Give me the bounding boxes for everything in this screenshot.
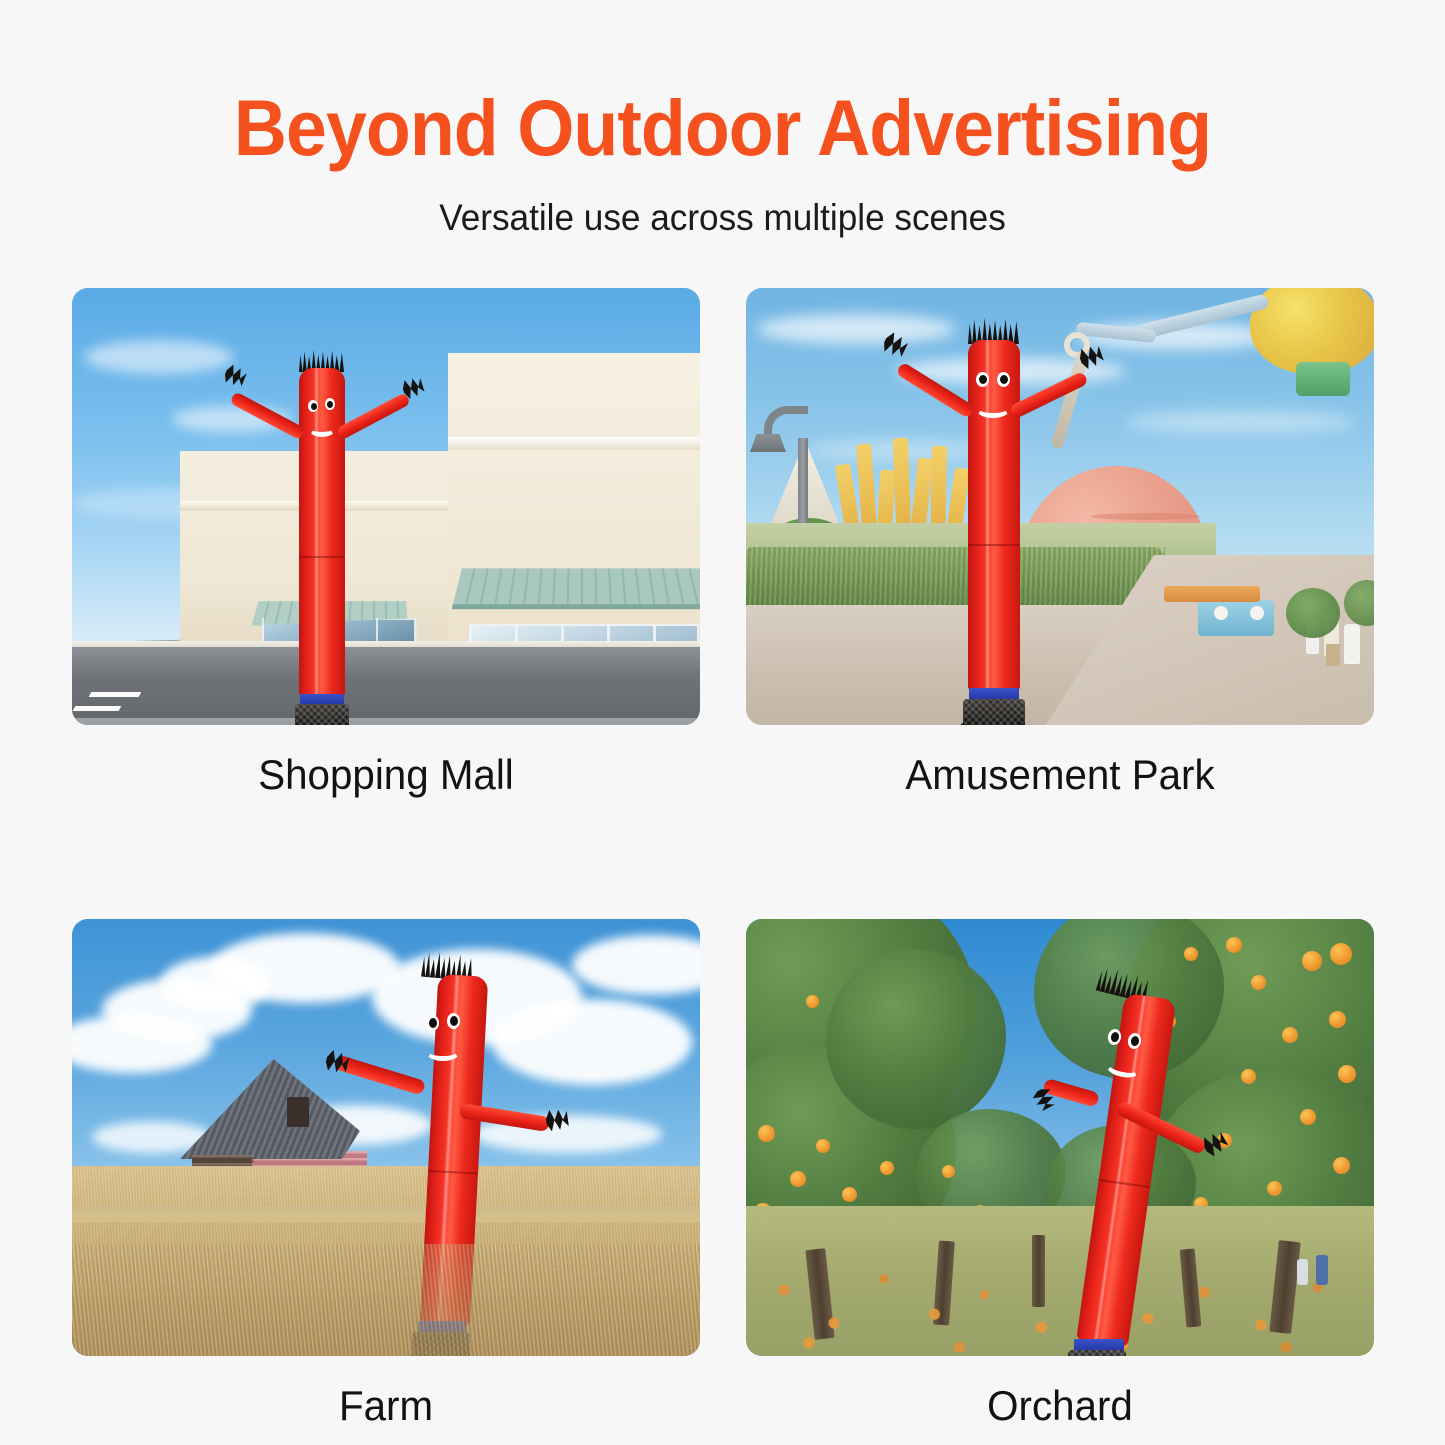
- cloud: [756, 314, 956, 344]
- barn-window: [287, 1097, 309, 1127]
- visitor: [1344, 624, 1360, 664]
- body-highlight: [314, 368, 319, 698]
- entrance-awning: [452, 568, 700, 609]
- asphalt-upper: [72, 718, 700, 725]
- tube-man-eye-left: [426, 1015, 439, 1031]
- parking-line: [73, 706, 122, 711]
- orange-fruit: [1267, 1181, 1282, 1196]
- visitor: [1297, 1259, 1308, 1285]
- body-seam: [968, 544, 1020, 546]
- tube-man-body: [968, 340, 1020, 692]
- orange-fruit: [1338, 1065, 1356, 1083]
- orange-fruit: [1333, 1157, 1350, 1174]
- orange-fruit: [1300, 1109, 1316, 1125]
- tube-man-pupil-right: [327, 401, 333, 408]
- header: Beyond Outdoor Advertising Versatile use…: [0, 0, 1445, 239]
- page-title: Beyond Outdoor Advertising: [51, 88, 1395, 167]
- tube-man-arm-tassel-right: [545, 1108, 570, 1133]
- tube-man-smile: [976, 400, 1010, 418]
- orange-tree-canopy: [826, 949, 1006, 1129]
- orange-fruit: [816, 1139, 830, 1153]
- tube-man-pupil-left: [311, 403, 317, 410]
- scene-card-shopping-mall: Shopping Mall: [72, 288, 700, 799]
- orange-fruit: [1282, 1027, 1298, 1043]
- orange-fruit: [880, 1161, 894, 1175]
- scene-caption: Shopping Mall: [85, 751, 688, 799]
- tube-man-pupil-right: [1130, 1035, 1140, 1046]
- park-kiosk: [1198, 600, 1274, 636]
- orange-fruit: [1184, 947, 1198, 961]
- scene-caption: Orchard: [759, 1382, 1362, 1430]
- visitor: [1316, 1255, 1328, 1285]
- tube-man-pupil-left: [1110, 1031, 1120, 1042]
- scene-card-orchard: Orchard: [746, 919, 1374, 1430]
- blower-unit: [963, 699, 1025, 725]
- inflatable-tube-man: [1046, 971, 1236, 1356]
- inflatable-tube-man: [942, 318, 1112, 708]
- tube-man-eye-right: [447, 1013, 460, 1029]
- page-subtitle: Versatile use across multiple scenes: [36, 197, 1409, 239]
- tube-man-arm-left: [1042, 1078, 1100, 1108]
- kiosk-canopy: [1164, 586, 1260, 602]
- orange-fruit: [758, 1125, 775, 1142]
- tube-man-pupil-right: [1000, 375, 1008, 384]
- kiosk-logo-icon: [1214, 606, 1228, 620]
- tube-man-body: [1076, 993, 1176, 1347]
- orange-fruit: [1329, 1011, 1346, 1028]
- tube-man-eye-right: [997, 372, 1010, 387]
- orange-fruit: [942, 1165, 955, 1178]
- tree: [1286, 588, 1340, 638]
- scene-card-farm: Farm: [72, 919, 700, 1430]
- orange-fruit: [1226, 937, 1242, 953]
- scene-caption: Amusement Park: [759, 751, 1362, 799]
- scene-photo-shopping-mall: [72, 288, 700, 725]
- orange-fruit: [790, 1171, 806, 1187]
- tube-man-arm-right: [1009, 371, 1089, 420]
- blower-unit: [295, 704, 349, 725]
- tube-man-arm-tassel-right: [1077, 343, 1105, 371]
- scene-card-amusement-park: Amusement Park: [746, 288, 1374, 799]
- orange-fruit: [1241, 1069, 1256, 1084]
- tube-man-smile: [309, 422, 335, 437]
- tube-man-smile: [426, 1043, 460, 1061]
- foreground-wheat: [72, 1244, 700, 1356]
- orange-fruit: [1330, 943, 1352, 965]
- tube-man-pupil-left: [429, 1018, 437, 1028]
- body-highlight: [985, 340, 991, 692]
- body-seam: [1099, 1179, 1151, 1188]
- scene-photo-amusement-park: [746, 288, 1374, 725]
- inflatable-tube-man: [277, 350, 437, 712]
- body-seam: [428, 1170, 478, 1175]
- tube-man-eye-left: [976, 372, 989, 387]
- scene-photo-orchard: [746, 919, 1374, 1356]
- blower-unit: [1068, 1350, 1126, 1356]
- visitor-legs: [1326, 644, 1340, 666]
- field-horizon: [72, 1206, 700, 1222]
- orange-fruit: [842, 1187, 857, 1202]
- scene-photo-farm: [72, 919, 700, 1356]
- tube-man-pupil-right: [450, 1016, 458, 1026]
- tube-man-eye-right: [325, 398, 335, 410]
- roof-cornice: [448, 437, 700, 450]
- orange-fruit: [806, 995, 819, 1008]
- balloon-basket: [1296, 362, 1350, 396]
- cloud: [1126, 410, 1356, 434]
- scene-grid: Shopping Mall: [72, 288, 1374, 1430]
- orange-fruit: [1302, 951, 1322, 971]
- cloud: [84, 340, 234, 374]
- parking-line: [89, 692, 142, 697]
- tube-man-arm-tassel-right: [1200, 1129, 1230, 1159]
- kiosk-logo-icon: [1250, 606, 1264, 620]
- product-feature-page: Beyond Outdoor Advertising Versatile use…: [0, 0, 1445, 1445]
- tube-man-eye-left: [308, 400, 318, 412]
- tube-man-body: [299, 368, 345, 698]
- body-highlight: [1093, 995, 1147, 1342]
- tube-man-pupil-left: [979, 375, 987, 384]
- body-seam: [299, 556, 345, 558]
- tube-man-arm-right: [336, 392, 411, 440]
- orange-fruit: [1251, 975, 1266, 990]
- scene-caption: Farm: [85, 1382, 688, 1430]
